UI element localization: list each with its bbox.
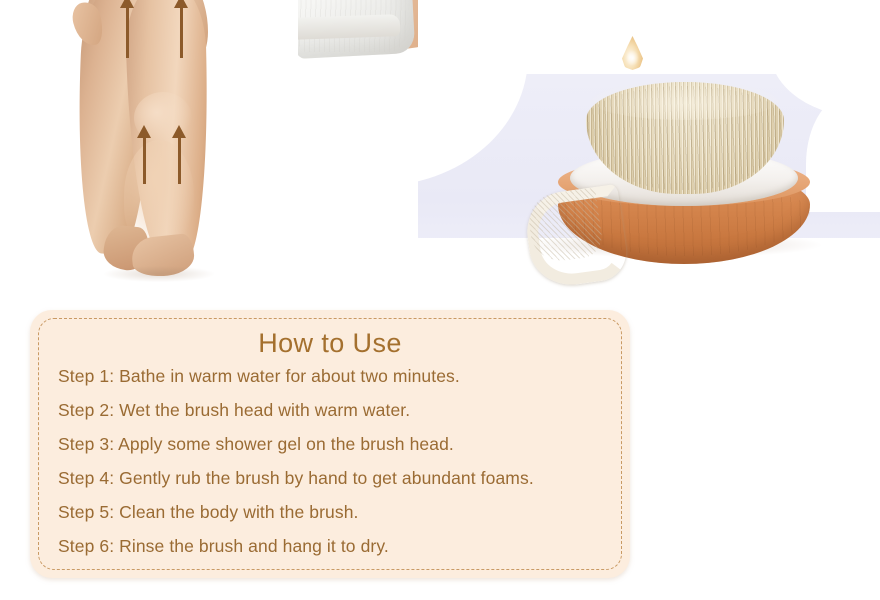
- step-item: Step 4: Gently rub the brush by hand to …: [58, 470, 614, 488]
- body-brush-photo: [418, 0, 880, 292]
- product-detail-page: How to Use Step 1: Bathe in warm water f…: [0, 0, 880, 600]
- towel-body-photo: [298, 0, 420, 292]
- step-item: Step 5: Clean the body with the brush.: [58, 504, 614, 522]
- step-item: Step 2: Wet the brush head with warm wat…: [58, 402, 614, 420]
- towel-fold: [298, 14, 400, 40]
- bristle-top-highlight: [590, 80, 780, 120]
- how-to-use-title: How to Use: [30, 328, 630, 359]
- step-item: Step 3: Apply some shower gel on the bru…: [58, 436, 614, 454]
- how-to-use-card: How to Use Step 1: Bathe in warm water f…: [30, 310, 630, 578]
- step-item: Step 1: Bathe in warm water for about tw…: [58, 368, 614, 386]
- how-to-use-steps: Step 1: Bathe in warm water for about tw…: [58, 368, 614, 572]
- product-photo-band: [0, 0, 880, 292]
- legs-direction-photo: [0, 0, 300, 292]
- oil-droplet-highlight: [626, 50, 639, 66]
- step-item: Step 6: Rinse the brush and hang it to d…: [58, 538, 614, 556]
- legs-shadow: [104, 266, 214, 282]
